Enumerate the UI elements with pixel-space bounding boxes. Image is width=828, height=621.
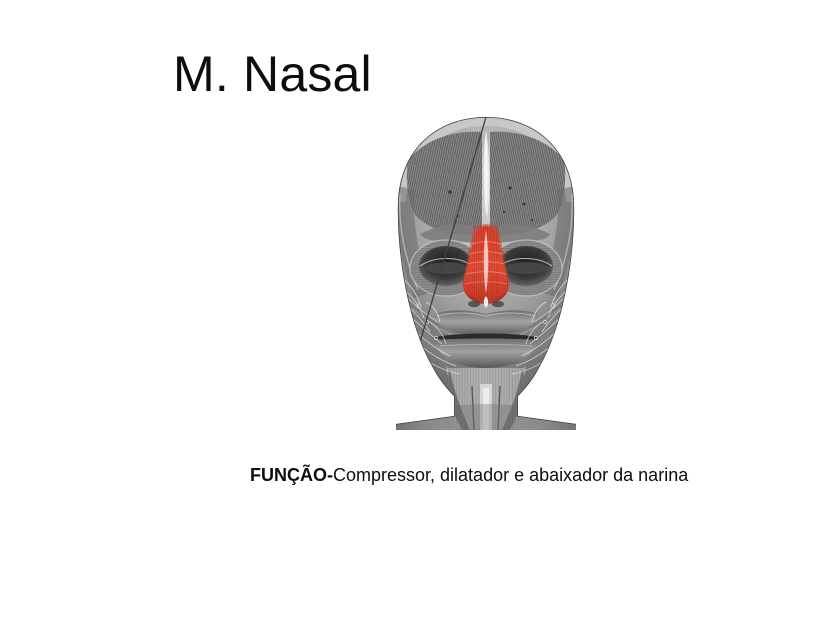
neck-region bbox=[386, 364, 586, 430]
nostril-left bbox=[468, 301, 480, 307]
presentation-slide: M. Nasal bbox=[0, 0, 828, 621]
anatomy-illustration bbox=[386, 116, 586, 430]
caption-label: FUNÇÃO- bbox=[250, 465, 333, 485]
page-title: M. Nasal bbox=[173, 47, 372, 101]
head-muscles-diagram bbox=[386, 116, 586, 430]
caption-body: Compressor, dilatador e abaixador da nar… bbox=[333, 465, 688, 485]
nostril-right bbox=[492, 301, 504, 307]
figure-caption: FUNÇÃO-Compressor, dilatador e abaixador… bbox=[250, 464, 770, 487]
head-silhouette bbox=[386, 116, 586, 430]
